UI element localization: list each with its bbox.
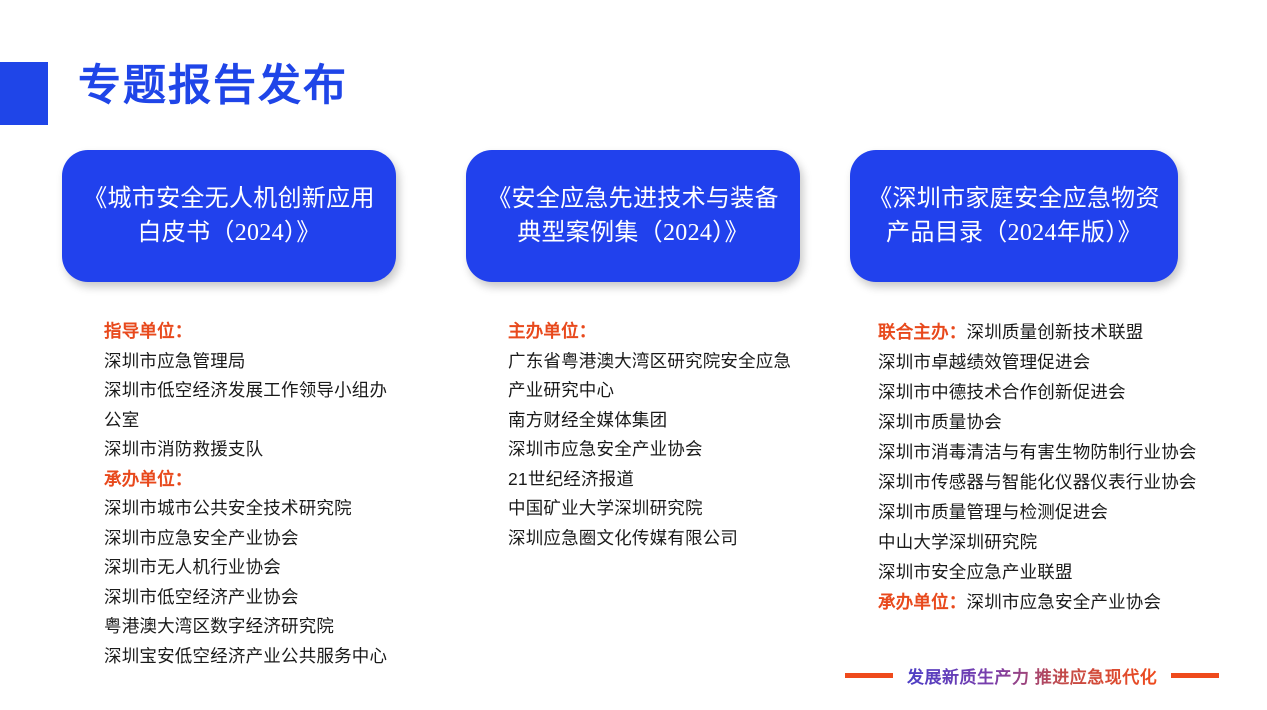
section-label: 承办单位： xyxy=(878,592,967,612)
report-card-3[interactable]: 《深圳市家庭安全应急物资产品目录（2024年版）》 xyxy=(850,150,1178,282)
report-card-title: 《安全应急先进技术与装备典型案例集（2024）》 xyxy=(478,182,788,250)
section-联合主办: 联合主办：深圳质量创新技术联盟 深圳市卓越绩效管理促进会 深圳市中德技术合作创新… xyxy=(878,317,1200,587)
footer-slogan: 发展新质生产力 推进应急现代化 xyxy=(845,655,1245,695)
list-item: 深圳质量创新技术联盟 xyxy=(967,322,1144,342)
list-item: 深圳市低空经济产业协会 xyxy=(104,583,402,613)
report-card-1[interactable]: 《城市安全无人机创新应用白皮书（2024）》 xyxy=(62,150,396,282)
section-承办单位: 承办单位： 深圳市城市公共安全技术研究院 深圳市应急安全产业协会 深圳市无人机行… xyxy=(104,465,402,672)
page-header: 专题报告发布 xyxy=(0,0,1267,150)
list-item: 深圳市消毒清洁与有害生物防制行业协会 xyxy=(878,437,1200,467)
section-label: 联合主办： xyxy=(878,322,967,342)
organizations-list-3: 联合主办：深圳质量创新技术联盟 深圳市卓越绩效管理促进会 深圳市中德技术合作创新… xyxy=(850,317,1200,617)
section-承办单位: 承办单位：深圳市应急安全产业协会 xyxy=(878,587,1200,617)
list-item: 深圳市应急管理局 xyxy=(104,347,402,377)
section-label-inline: 联合主办：深圳质量创新技术联盟 xyxy=(878,317,1200,347)
list-item: 深圳市城市公共安全技术研究院 xyxy=(104,494,402,524)
list-item: 深圳宝安低空经济产业公共服务中心 xyxy=(104,642,402,672)
slogan-text: 发展新质生产力 推进应急现代化 xyxy=(907,663,1157,688)
report-card-title: 《深圳市家庭安全应急物资产品目录（2024年版）》 xyxy=(862,182,1166,250)
list-item: 深圳市消防救援支队 xyxy=(104,435,402,465)
list-item: 深圳市无人机行业协会 xyxy=(104,553,402,583)
dash-left-icon xyxy=(845,673,893,678)
list-item: 广东省粤港澳大湾区研究院安全应急产业研究中心 xyxy=(508,347,806,406)
organizations-list-1: 指导单位： 深圳市应急管理局 深圳市低空经济发展工作领导小组办公室 深圳市消防救… xyxy=(62,317,402,671)
list-item: 深圳市应急安全产业协会 xyxy=(967,592,1162,612)
list-item: 深圳市卓越绩效管理促进会 xyxy=(878,347,1200,377)
reports-columns: 《城市安全无人机创新应用白皮书（2024）》 指导单位： 深圳市应急管理局 深圳… xyxy=(0,150,1267,710)
list-item: 21世纪经济报道 xyxy=(508,465,806,495)
list-item: 深圳市质量协会 xyxy=(878,407,1200,437)
report-column-2: 《安全应急先进技术与装备典型案例集（2024）》 主办单位： 广东省粤港澳大湾区… xyxy=(466,150,806,553)
report-column-3: 《深圳市家庭安全应急物资产品目录（2024年版）》 联合主办：深圳质量创新技术联… xyxy=(850,150,1200,617)
list-item: 深圳市应急安全产业协会 xyxy=(508,435,806,465)
list-item: 南方财经全媒体集团 xyxy=(508,406,806,436)
list-item: 粤港澳大湾区数字经济研究院 xyxy=(104,612,402,642)
list-item: 深圳市传感器与智能化仪器仪表行业协会 xyxy=(878,467,1200,497)
list-item: 深圳市中德技术合作创新促进会 xyxy=(878,377,1200,407)
list-item: 深圳市低空经济发展工作领导小组办公室 xyxy=(104,376,402,435)
report-card-title: 《城市安全无人机创新应用白皮书（2024）》 xyxy=(74,182,384,250)
page-title: 专题报告发布 xyxy=(78,59,348,115)
report-card-2[interactable]: 《安全应急先进技术与装备典型案例集（2024）》 xyxy=(466,150,800,282)
list-item: 深圳市应急安全产业协会 xyxy=(104,524,402,554)
list-item: 深圳市安全应急产业联盟 xyxy=(878,557,1200,587)
list-item: 中国矿业大学深圳研究院 xyxy=(508,494,806,524)
list-item: 中山大学深圳研究院 xyxy=(878,527,1200,557)
section-label: 主办单位： xyxy=(508,317,806,347)
section-指导单位: 指导单位： 深圳市应急管理局 深圳市低空经济发展工作领导小组办公室 深圳市消防救… xyxy=(104,317,402,465)
section-主办单位: 主办单位： 广东省粤港澳大湾区研究院安全应急产业研究中心 南方财经全媒体集团 深… xyxy=(508,317,806,553)
header-accent-block xyxy=(0,62,48,125)
section-label: 承办单位： xyxy=(104,465,402,495)
section-label-inline: 承办单位：深圳市应急安全产业协会 xyxy=(878,587,1200,617)
list-item: 深圳市质量管理与检测促进会 xyxy=(878,497,1200,527)
section-label: 指导单位： xyxy=(104,317,402,347)
list-item: 深圳应急圈文化传媒有限公司 xyxy=(508,524,806,554)
report-column-1: 《城市安全无人机创新应用白皮书（2024）》 指导单位： 深圳市应急管理局 深圳… xyxy=(62,150,402,671)
organizations-list-2: 主办单位： 广东省粤港澳大湾区研究院安全应急产业研究中心 南方财经全媒体集团 深… xyxy=(466,317,806,553)
dash-right-icon xyxy=(1171,673,1219,678)
